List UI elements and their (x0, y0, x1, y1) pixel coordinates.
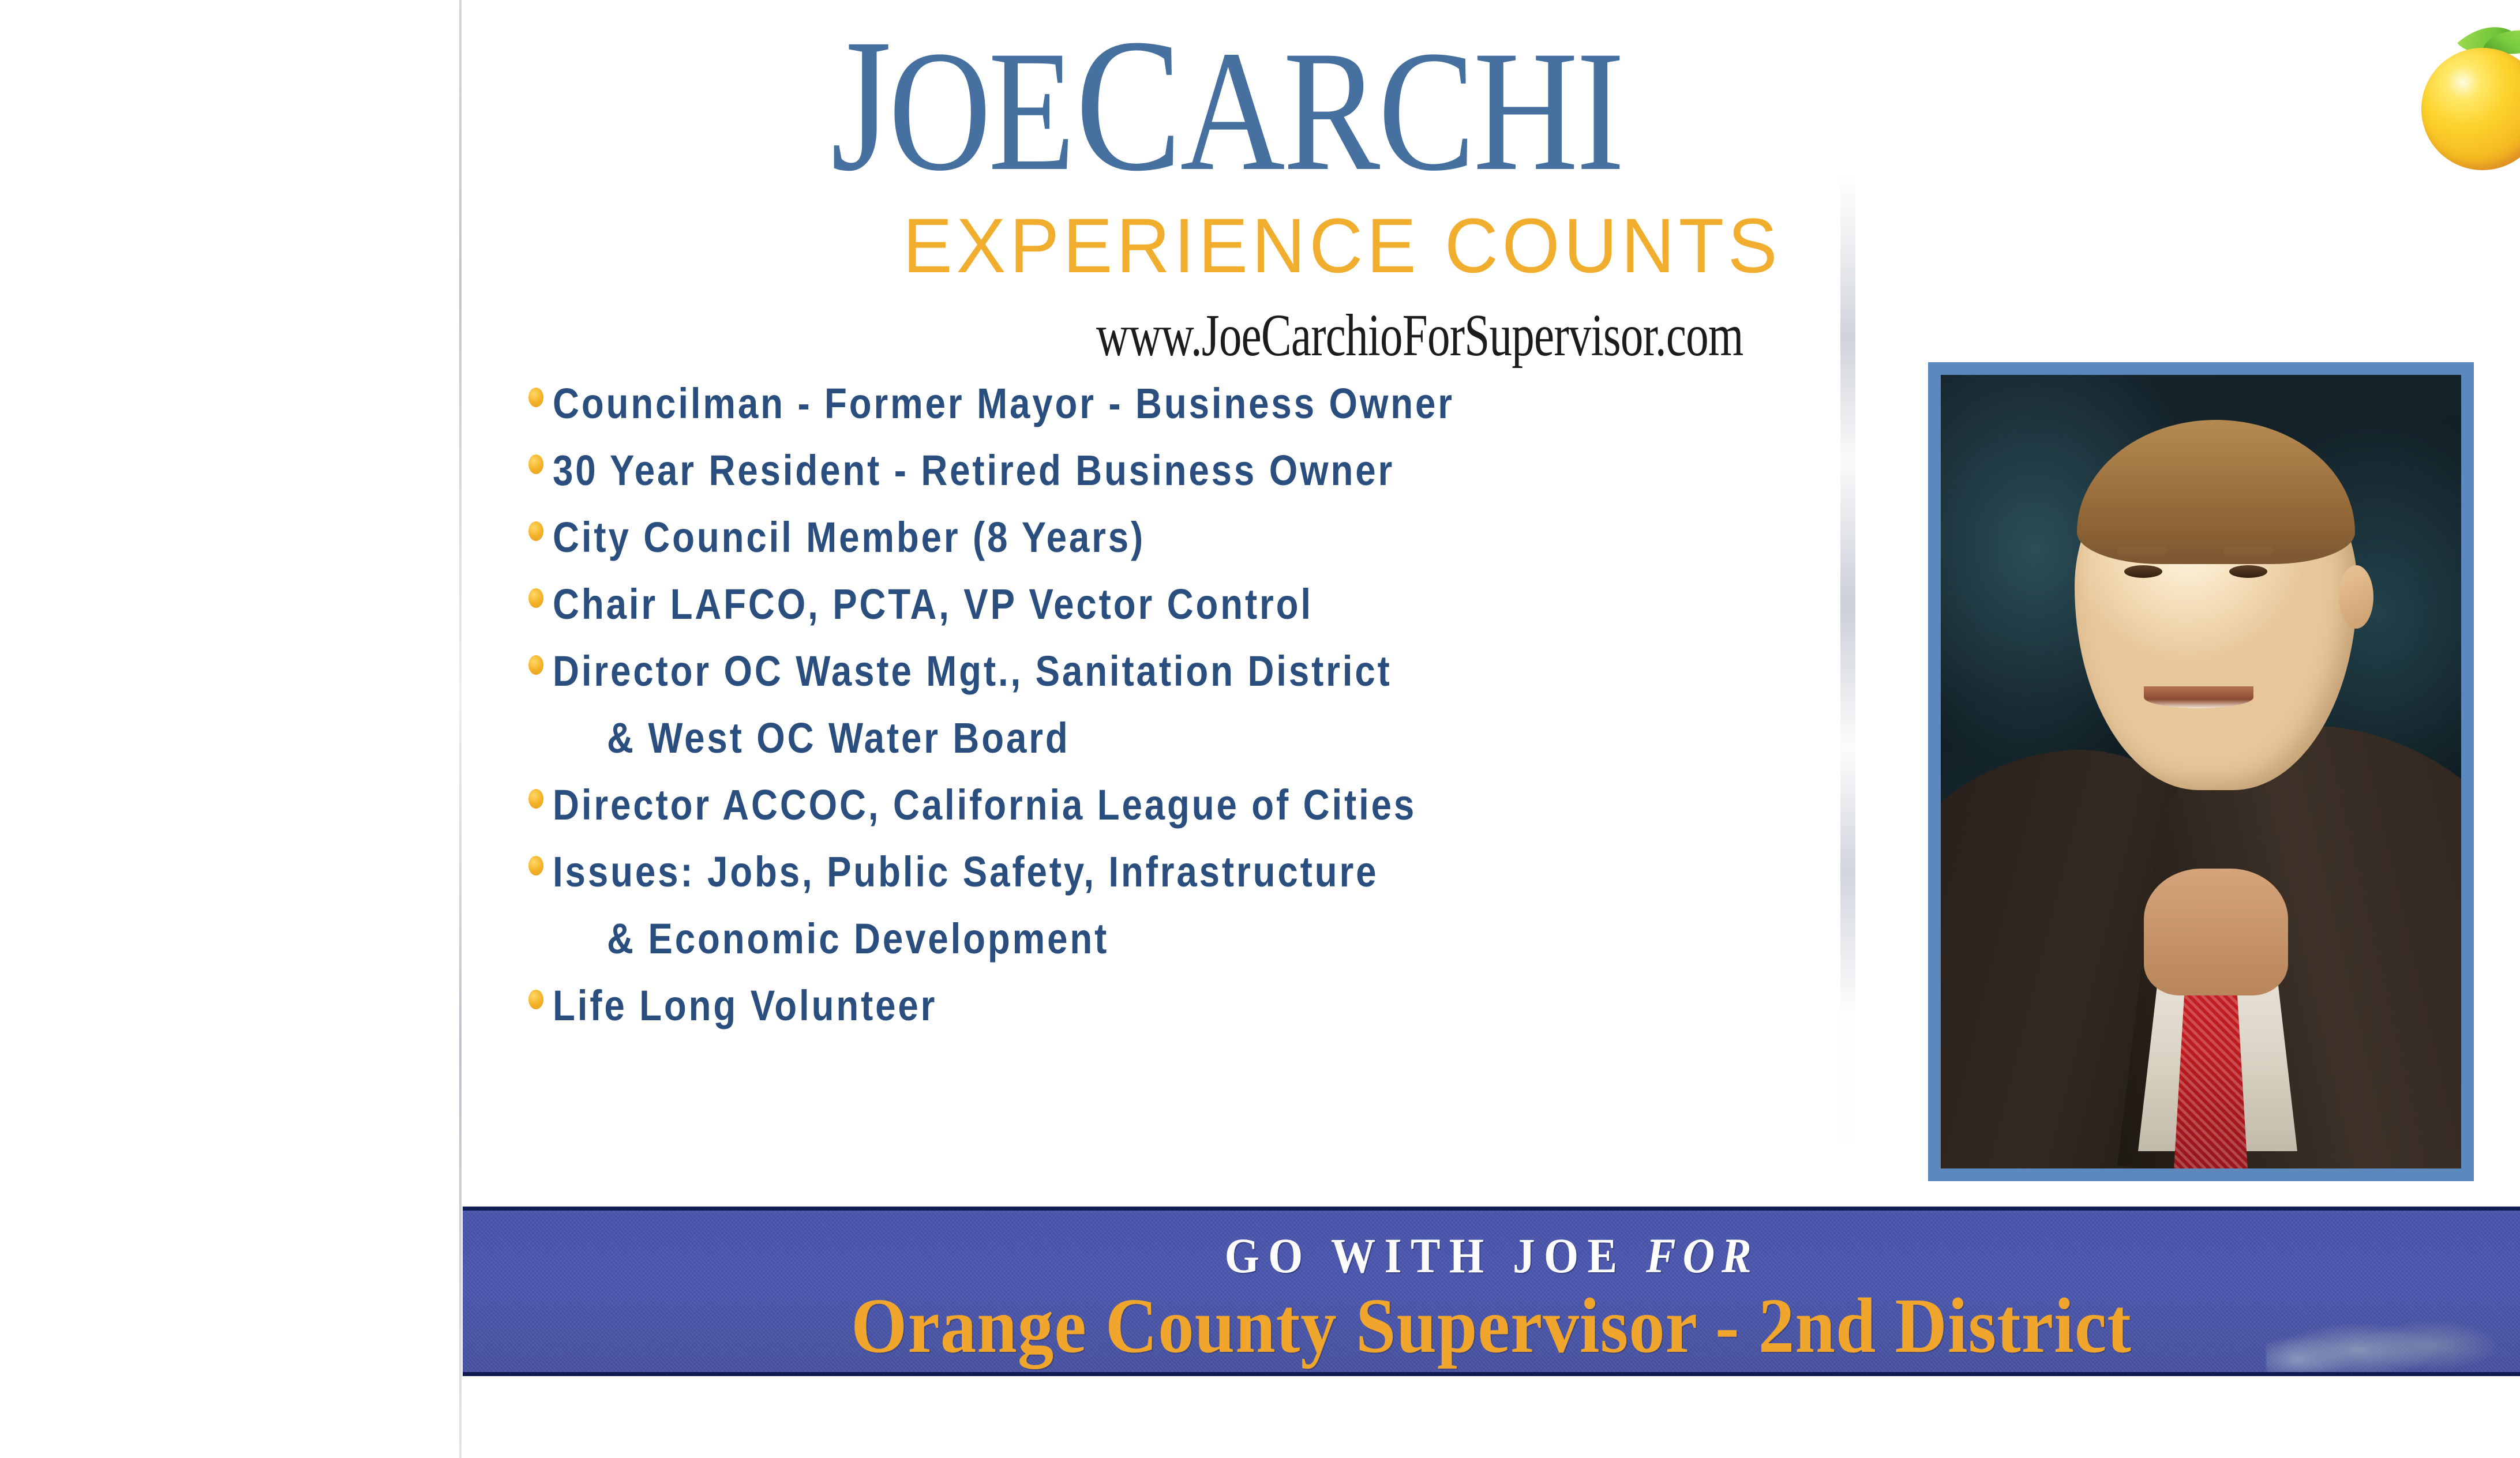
logo-header: JOE CARCHI EXPERIENCE COUNTS www.JoeCarc… (462, 0, 2520, 369)
bullet-dot-icon (528, 521, 543, 541)
qualification-label: 30 Year Resident - Retired Business Owne… (553, 448, 1394, 494)
bullet-dot-icon (528, 990, 543, 1009)
qualification-item: & Economic Development (515, 916, 1842, 968)
banner-slogan-plain: GO WITH JOE (1225, 1228, 1647, 1283)
campaign-tagline: EXPERIENCE COUNTS (903, 202, 2398, 290)
qualification-item: Life Long Volunteer (515, 983, 1842, 1035)
qualification-label: Director ACCOC, California League of Cit… (553, 782, 1416, 828)
qualification-label: & Economic Development (607, 916, 1109, 962)
scan-smudge-artifact (2266, 1319, 2497, 1376)
portrait-eye-left (2124, 565, 2162, 578)
candidate-name: JOE CARCHI (831, 5, 2342, 195)
paper-left-margin (0, 0, 462, 1458)
portrait-eyebrow-left (2117, 546, 2167, 554)
portrait-eyebrow-right (2223, 546, 2273, 554)
banner-slogan: GO WITH JOE FOR (565, 1227, 2417, 1284)
qualification-item: City Council Member (8 Years) (515, 514, 1842, 566)
orange-body-icon (2421, 48, 2520, 170)
portrait-mouth (2144, 686, 2253, 708)
qualification-item: Chair LAFCO, PCTA, VP Vector Control (515, 581, 1842, 633)
qualification-item: & West OC Water Board (515, 715, 1842, 767)
qualification-label: City Council Member (8 Years) (553, 514, 1145, 561)
qualification-label: Life Long Volunteer (553, 983, 937, 1029)
qualification-item: 30 Year Resident - Retired Business Owne… (515, 448, 1842, 499)
bullet-dot-icon (528, 454, 543, 474)
qualification-label: Issues: Jobs, Public Safety, Infrastruct… (553, 849, 1378, 895)
portrait-eye-right (2229, 565, 2267, 578)
orange-fruit-icon (2414, 17, 2520, 170)
qualification-item: Director ACCOC, California League of Cit… (515, 782, 1842, 834)
candidate-portrait-frame (1928, 362, 2474, 1181)
qualifications-list: Councilman - Former Mayor - Business Own… (515, 381, 1842, 1050)
office-banner: GO WITH JOE FOR Orange County Supervisor… (463, 1207, 2520, 1376)
candidate-last-name: CARCHI (1075, 16, 1623, 195)
qualification-label: & West OC Water Board (607, 715, 1070, 761)
candidate-portrait-photo (1941, 375, 2461, 1168)
qualification-item: Councilman - Former Mayor - Business Own… (515, 381, 1842, 433)
bullet-dot-icon (528, 588, 543, 608)
qualification-label: Director OC Waste Mgt., Sanitation Distr… (553, 648, 1392, 694)
bullet-dot-icon (528, 388, 543, 407)
banner-slogan-italic: FOR (1646, 1228, 1758, 1283)
qualification-label: Councilman - Former Mayor - Business Own… (553, 381, 1454, 427)
campaign-website[interactable]: www.JoeCarchioForSupervisor.com (1096, 301, 2148, 370)
qualification-item: Director OC Waste Mgt., Sanitation Distr… (515, 648, 1842, 700)
portrait-neck (2144, 869, 2288, 995)
bullet-dot-icon (528, 789, 543, 809)
candidate-first-name: JOE (831, 16, 1072, 195)
qualification-item: Issues: Jobs, Public Safety, Infrastruct… (515, 849, 1842, 901)
banner-office-title: Orange County Supervisor - 2nd District (545, 1281, 2438, 1371)
portrait-ear (2339, 565, 2373, 629)
bullet-dot-icon (528, 856, 543, 875)
bullet-dot-icon (528, 655, 543, 675)
qualification-label: Chair LAFCO, PCTA, VP Vector Control (553, 581, 1313, 627)
campaign-card: JOE CARCHI EXPERIENCE COUNTS www.JoeCarc… (462, 0, 2520, 1458)
